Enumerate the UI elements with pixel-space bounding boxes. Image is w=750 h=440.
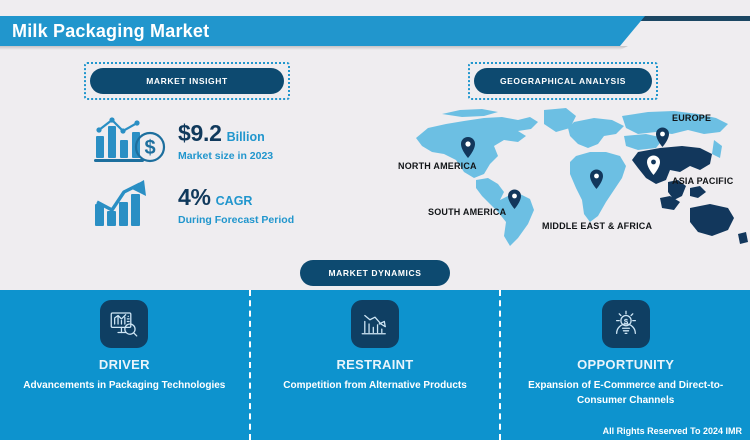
header: Milk Packaging Market [0,8,750,40]
stat-market-size: $ $9.2 Billion Market size in 2023 [92,114,273,168]
infographic-page: Milk Packaging Market MARKET INSIGHT [0,0,750,440]
card-restraint: RESTRAINT Competition from Alternative P… [249,290,500,440]
growth-arrow-icon [92,178,166,232]
geographical-analysis-label: GEOGRAPHICAL ANALYSIS [500,76,626,86]
world-map: NORTH AMERICA SOUTH AMERICA MIDDLE EAST … [398,104,750,256]
market-dynamics-section-header: MARKET DYNAMICS [300,260,450,286]
map-label-europe: EUROPE [672,113,711,123]
geographical-analysis-section-header: GEOGRAPHICAL ANALYSIS [468,62,658,100]
copyright-note: All Rights Reserved To 2024 IMR [603,426,742,436]
svg-text:$: $ [144,137,155,159]
map-label-north-america: NORTH AMERICA [398,161,477,171]
card-driver-title: DRIVER [99,357,150,372]
lightbulb-dollar-icon: $ [602,300,650,348]
card-opportunity-title: OPPORTUNITY [577,357,674,372]
market-insight-section-header: MARKET INSIGHT [84,62,290,100]
card-driver: DRIVER Advancements in Packaging Technol… [0,290,249,440]
market-insight-pill: MARKET INSIGHT [90,68,284,94]
stat-market-size-value: $9.2 [178,120,222,147]
monitor-chart-magnifier-icon [100,300,148,348]
card-opportunity-description: Expansion of E-Commerce and Direct-to-Co… [521,379,731,408]
stat-cagr-text: 4% CAGR During Forecast Period [178,184,294,226]
stat-market-size-unit: Billion [227,130,265,144]
stat-cagr: 4% CAGR During Forecast Period [92,178,294,232]
stat-cagr-sub: During Forecast Period [178,214,294,226]
stat-market-size-text: $9.2 Billion Market size in 2023 [178,120,273,162]
map-label-middle-east-africa: MIDDLE EAST & AFRICA [542,221,652,231]
card-restraint-title: RESTRAINT [336,357,413,372]
stat-cagr-value: 4% [178,184,211,211]
market-dynamics-label: MARKET DYNAMICS [328,268,421,278]
stat-cagr-unit: CAGR [216,194,253,208]
market-insight-label: MARKET INSIGHT [146,76,228,86]
map-label-south-america: SOUTH AMERICA [428,207,506,217]
geographical-analysis-pill: GEOGRAPHICAL ANALYSIS [474,68,652,94]
map-label-asia-pacific: ASIA PACIFIC [672,176,733,186]
market-dynamics-cards: DRIVER Advancements in Packaging Technol… [0,290,750,440]
bar-chart-dollar-icon: $ [92,114,166,168]
declining-bar-chart-icon [351,300,399,348]
market-dynamics-pill: MARKET DYNAMICS [300,260,450,286]
card-driver-description: Advancements in Packaging Technologies [23,379,225,394]
card-opportunity: $ OPPORTUNITY Expansion of E-Commerce an… [499,290,750,440]
header-shadow [0,46,628,50]
header-banner: Milk Packaging Market [0,16,645,46]
stat-market-size-sub: Market size in 2023 [178,150,273,162]
card-restraint-description: Competition from Alternative Products [283,379,467,394]
page-title: Milk Packaging Market [0,21,209,42]
